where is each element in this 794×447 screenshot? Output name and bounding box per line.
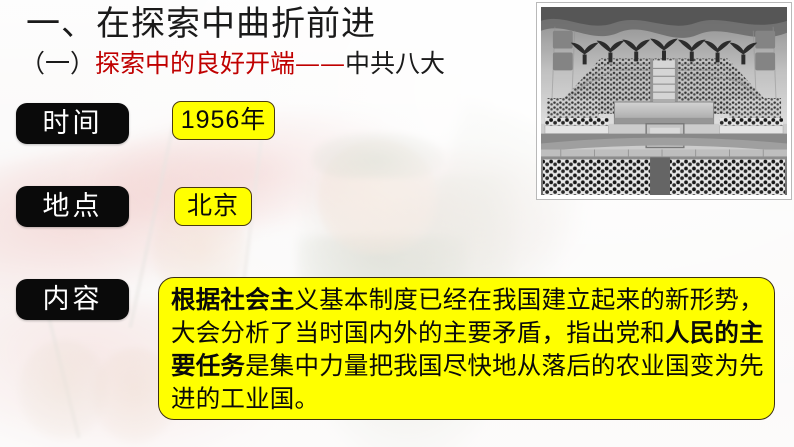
slide-canvas: 一、在探索中曲折前进 （一）探索中的良好开端——中共八大 时间 1956年 地点… [0,0,794,447]
content-text-panel: 根据社会主义基本制度已经在我国建立起来的新形势，大会分析了当时国内外的主要矛盾，… [158,277,775,420]
content-bold-1: 根据社会主 [171,287,295,314]
subtitle-suffix: 中共八大 [345,49,445,78]
page-title: 一、在探索中曲折前进 [26,2,376,46]
subtitle-highlight: 探索中的良好开端—— [95,49,345,78]
congress-hall-photo-image [541,7,787,195]
content-normal-2: 是集中力量把我国尽快地从落后的农业国变为先进的工业国。 [171,353,764,413]
page-subtitle: （一）探索中的良好开端——中共八大 [20,48,445,80]
label-pill-time: 时间 [16,103,129,144]
congress-hall-photo [536,2,792,200]
value-pill-place: 北京 [174,187,252,226]
value-pill-time: 1956年 [172,101,275,140]
label-pill-content: 内容 [16,279,129,320]
label-pill-place: 地点 [16,186,129,227]
subtitle-prefix: （一） [20,49,95,78]
